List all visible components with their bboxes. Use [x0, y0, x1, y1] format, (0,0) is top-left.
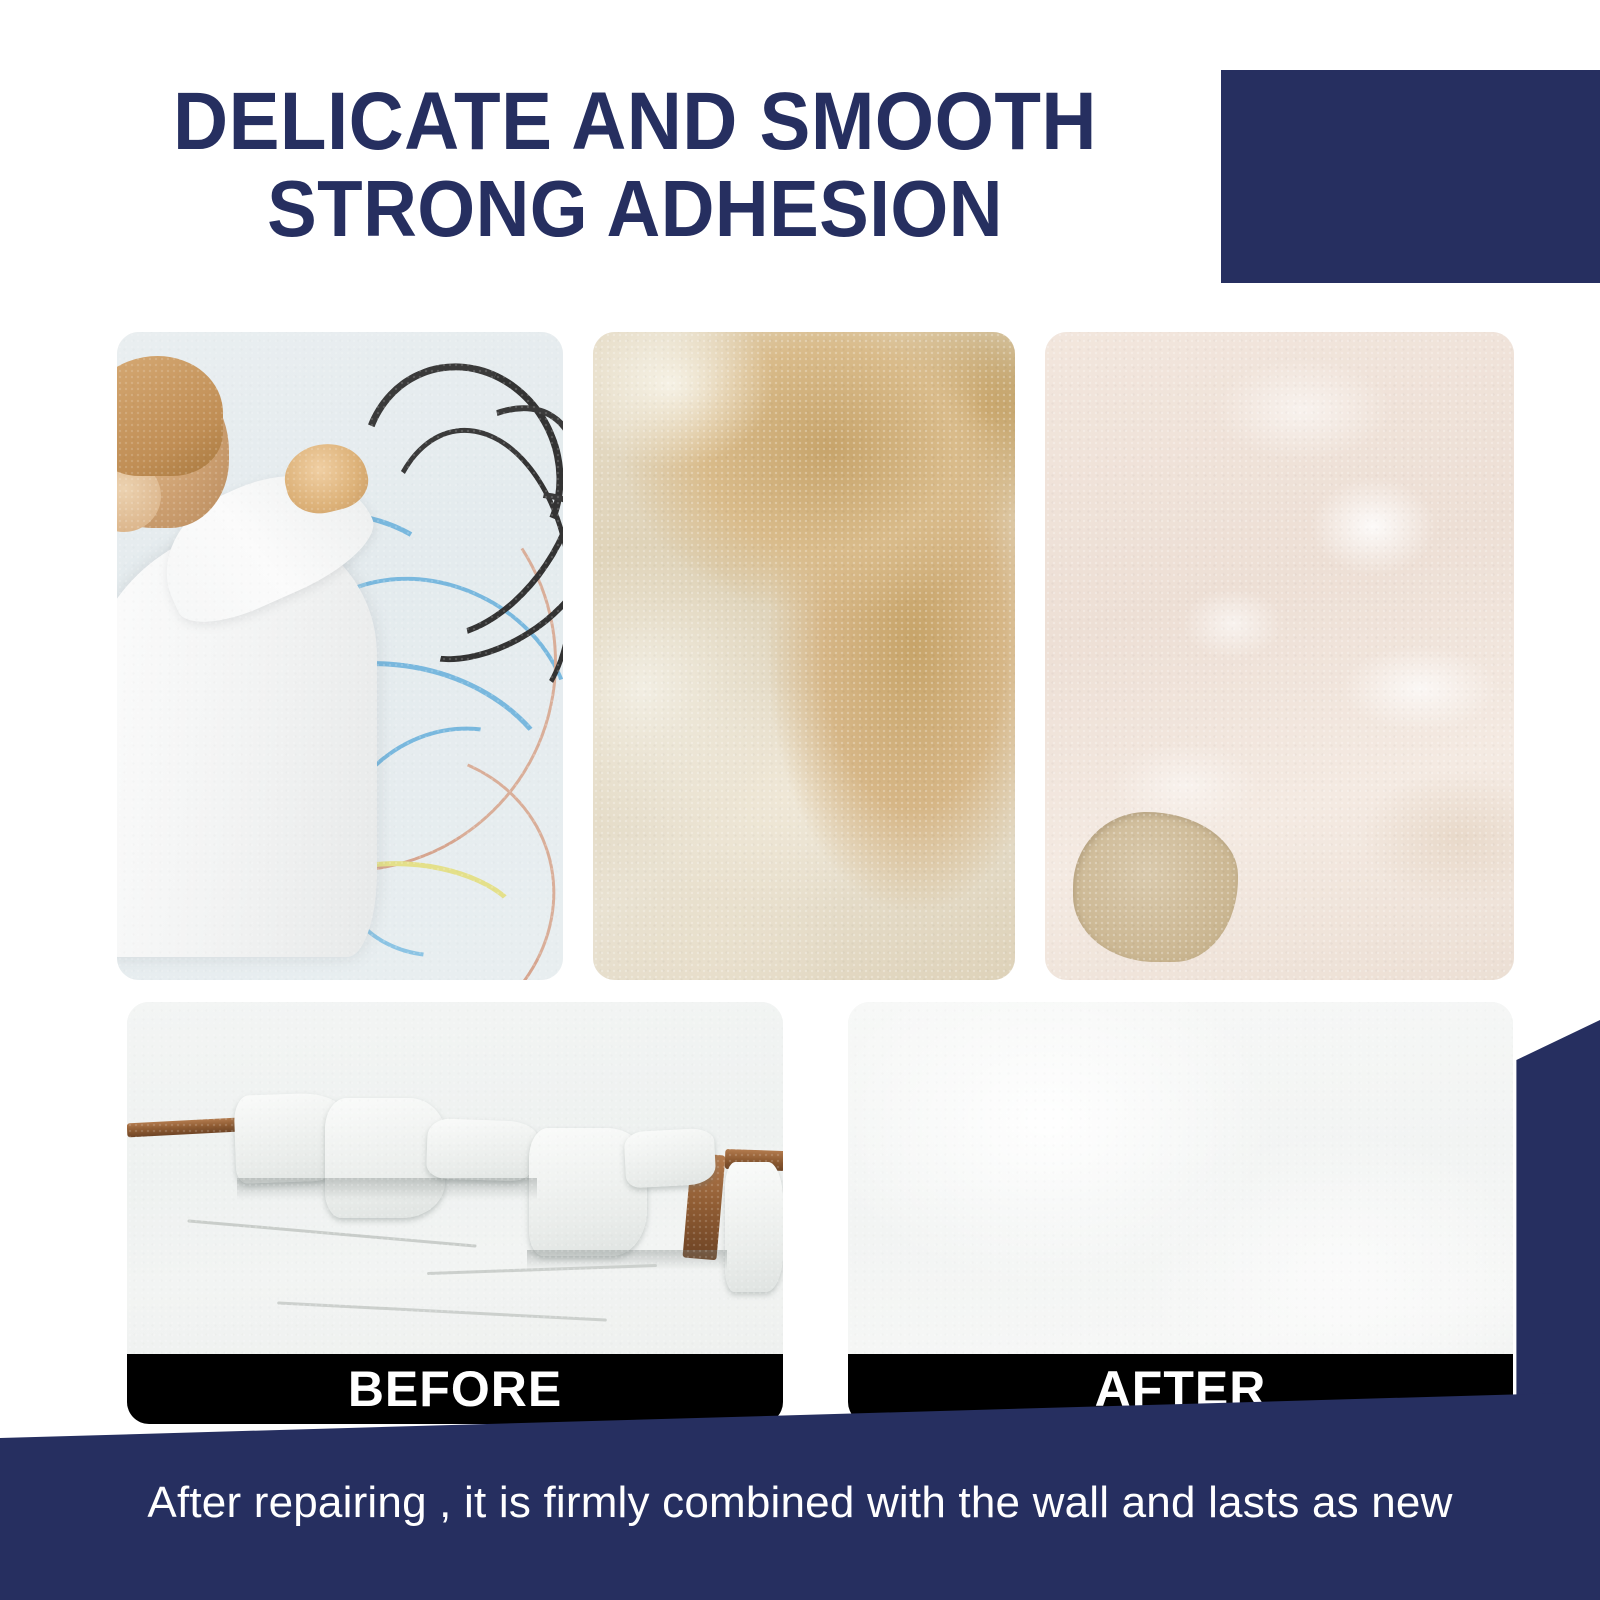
promo-canvas: DELICATE AND SMOOTH STRONG ADHESION — [0, 0, 1600, 1600]
title-line-1: DELICATE AND SMOOTH — [100, 82, 1170, 162]
peeled-patch — [1073, 812, 1238, 962]
page-title: DELICATE AND SMOOTH STRONG ADHESION — [60, 82, 1210, 249]
photo-water-stained-plaster — [593, 332, 1015, 980]
photo-card-child-scribbles — [117, 332, 563, 980]
photo-child-scribbles — [117, 332, 563, 980]
photo-card-blistered-paint — [1045, 332, 1514, 980]
footer-caption: After repairing , it is firmly combined … — [0, 1478, 1600, 1528]
texture-grain — [593, 332, 1015, 980]
photo-peeling-paint: BEFORE — [127, 1002, 783, 1424]
before-label-strip: BEFORE — [127, 1354, 783, 1424]
navy-corner-block — [1221, 70, 1600, 283]
header-block: DELICATE AND SMOOTH STRONG ADHESION — [0, 0, 1600, 320]
photo-blistered-paint — [1045, 332, 1514, 980]
before-label: BEFORE — [348, 1360, 562, 1418]
photo-card-before: BEFORE — [127, 1002, 783, 1424]
navy-accent-wedge — [1505, 1020, 1600, 1410]
photo-repaired-wall: AFTER — [848, 1002, 1513, 1424]
photo-card-after: AFTER — [848, 1002, 1513, 1424]
photo-card-water-stained-plaster — [593, 332, 1015, 980]
title-line-2: STRONG ADHESION — [100, 170, 1170, 248]
